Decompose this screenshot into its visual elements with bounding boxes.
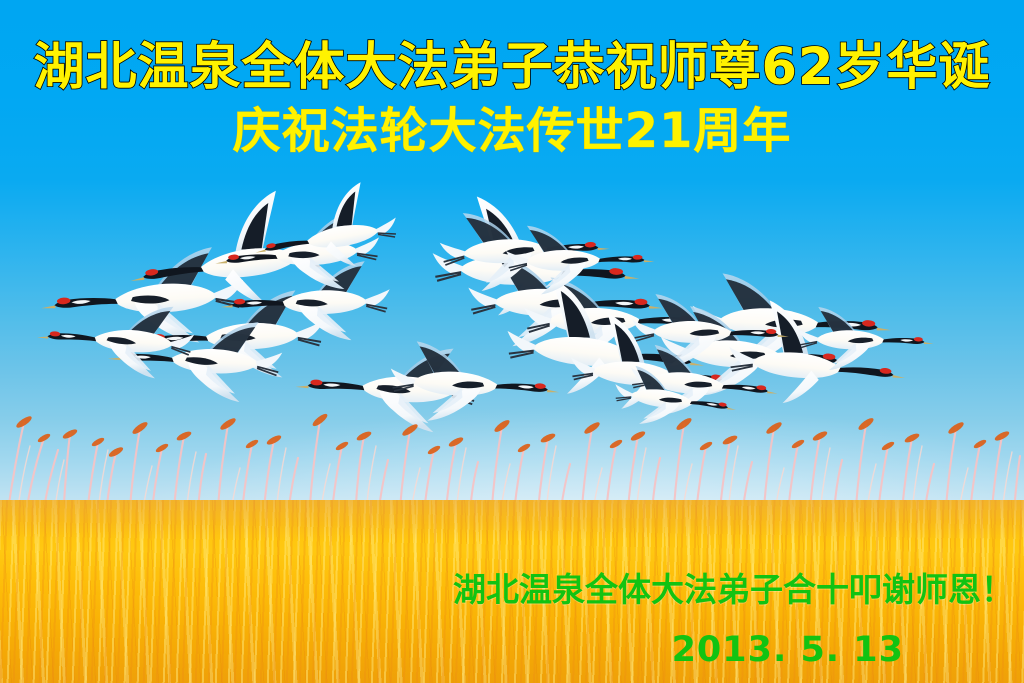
title-block: 湖北温泉全体大法弟子恭祝师尊62岁华诞 庆祝法轮大法传世21周年 (0, 38, 1024, 160)
title-line-2: 庆祝法轮大法传世21周年 (0, 102, 1024, 160)
date-text: 2013. 5. 13 (0, 630, 1024, 670)
field-horizon-blend (0, 500, 1024, 540)
poster-canvas: 湖北温泉全体大法弟子恭祝师尊62岁华诞 庆祝法轮大法传世21周年 湖北温泉全体大… (0, 0, 1024, 683)
signature-text: 湖北温泉全体大法弟子合十叩谢师恩！ (0, 563, 1014, 611)
title-line-1: 湖北温泉全体大法弟子恭祝师尊62岁华诞 (0, 38, 1024, 98)
